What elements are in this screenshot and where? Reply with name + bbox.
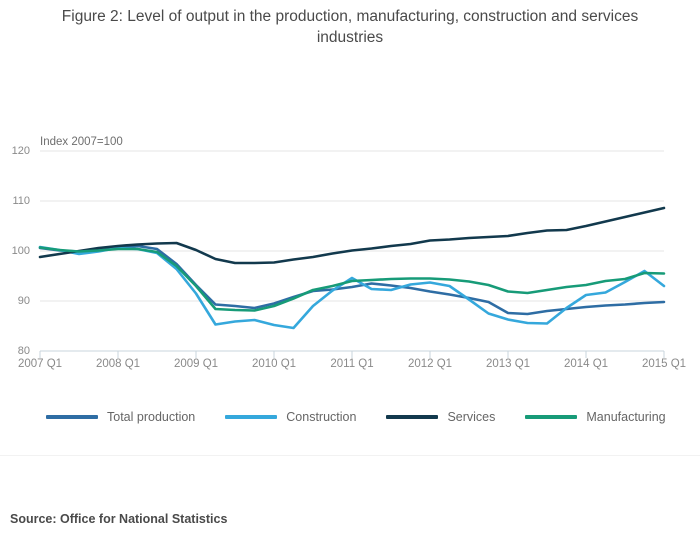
x-axis-tick-label: 2008 Q1 [96,358,140,370]
x-axis-tick-label: 2015 Q1 [642,358,686,370]
page-title: Figure 2: Level of output in the product… [40,6,660,48]
x-axis-tick-label: 2012 Q1 [408,358,452,370]
y-axis-tick-label: 80 [0,345,36,357]
chart-legend: Total productionConstructionServicesManu… [46,407,666,427]
legend-item-label: Total production [107,410,195,424]
y-axis-tick-label: 100 [0,245,36,257]
x-axis-tick-label: 2007 Q1 [18,358,62,370]
figure-container: Figure 2: Level of output in the product… [0,0,700,549]
chart-plot-area: Index 2007=100 8090100110120 2007 Q12008… [0,120,700,390]
y-axis-tick-label: 90 [0,295,36,307]
source-note: Source: Office for National Statistics [10,512,227,526]
legend-item-label: Construction [286,410,356,424]
legend-item-services[interactable]: Services [386,410,495,424]
x-axis-tick-label: 2011 Q1 [330,358,373,370]
y-axis-tick-label: 120 [0,145,36,157]
line-chart-svg [0,120,700,390]
x-axis-tick-label: 2013 Q1 [486,358,530,370]
y-axis-tick-label: 110 [0,195,36,207]
legend-swatch-icon [46,415,98,419]
legend-item-label: Services [447,410,495,424]
series-line-services [40,208,664,263]
x-axis-tick-label: 2009 Q1 [174,358,218,370]
legend-item-total-production[interactable]: Total production [46,410,195,424]
legend-swatch-icon [386,415,438,419]
footer-divider [0,455,700,456]
legend-swatch-icon [225,415,277,419]
legend-swatch-icon [525,415,577,419]
legend-item-manufacturing[interactable]: Manufacturing [525,410,665,424]
legend-item-construction[interactable]: Construction [225,410,356,424]
x-axis-tick-label: 2014 Q1 [564,358,608,370]
legend-item-label: Manufacturing [586,410,665,424]
x-axis-tick-label: 2010 Q1 [252,358,296,370]
